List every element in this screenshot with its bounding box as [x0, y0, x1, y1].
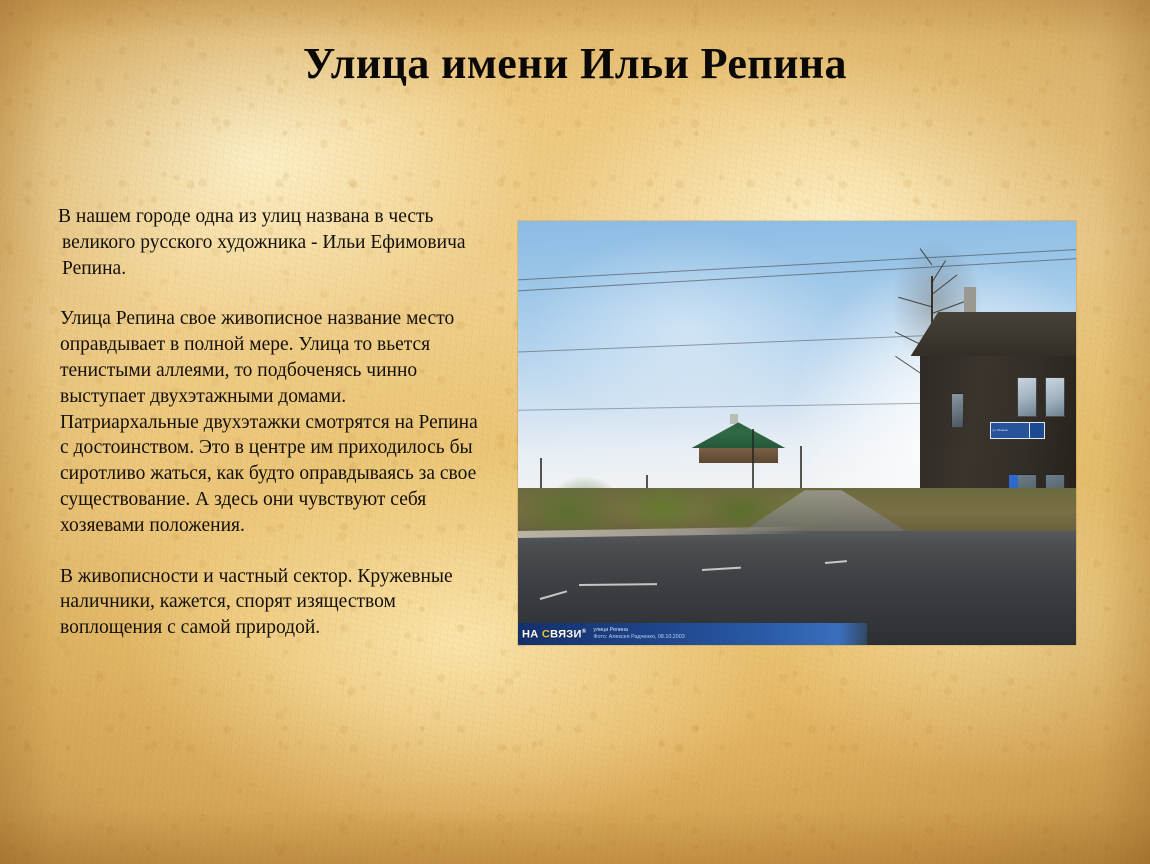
- na-svyazi-logo: НА СВЯЗИ®: [522, 627, 586, 641]
- paragraph-intro: В нашем городе одна из улиц названа в че…: [56, 204, 476, 281]
- green-roof-house: [691, 422, 786, 460]
- text-line: Улица Репина свое живописное название ме…: [60, 306, 476, 332]
- text-line: существование. А здесь они чувствуют себ…: [60, 487, 476, 513]
- text-line: великого русского художника - Ильи Ефимо…: [58, 230, 476, 256]
- text-line: Патриархальные двухэтажки смотрятся на Р…: [60, 410, 476, 436]
- slide-title: Улица имени Ильи Репина: [0, 38, 1150, 90]
- street-sign-number: [1029, 423, 1044, 437]
- text-line: Репина.: [58, 256, 476, 282]
- text-line: наличники, кажется, спорят изяществом: [60, 589, 476, 615]
- logo-prefix: НА: [522, 629, 542, 641]
- text-line: сиротливо жаться, как будто оправдываясь…: [60, 461, 476, 487]
- paragraph-description: Улица Репина свое живописное название ме…: [56, 306, 476, 538]
- paragraph-private-sector: В живописности и частный сектор. Кружевн…: [56, 564, 476, 641]
- street-photograph: ул. Репина НА СВЯЗИ® улица Репина Фото: …: [518, 221, 1076, 645]
- text-line: выступает двухэтажными домами.: [60, 384, 476, 410]
- body-text-column: В нашем городе одна из улиц названа в че…: [56, 204, 476, 641]
- text-line: воплощения с самой природой.: [60, 615, 476, 641]
- building-window: [1045, 377, 1066, 418]
- road-lane-marking: [579, 583, 657, 586]
- text-line: оправдывает в полной мере. Улица то вьет…: [60, 332, 476, 358]
- street-sign-label: ул. Репина: [991, 429, 1029, 432]
- logo-suffix: ВЯЗИ: [550, 629, 582, 641]
- text-line: В нашем городе одна из улиц названа в че…: [58, 204, 476, 230]
- street-name-sign: ул. Репина: [990, 422, 1045, 438]
- text-line: хозяевами положения.: [60, 513, 476, 539]
- photo-credit-line2: Фото: Алексея Радченко, 08.10.2003: [593, 634, 684, 641]
- building-window: [1017, 377, 1038, 418]
- building-roof: [910, 312, 1076, 357]
- photo-watermark-bar: НА СВЯЗИ® улица Репина Фото: Алексея Рад…: [518, 623, 867, 645]
- photo-credit: улица Репина Фото: Алексея Радченко, 08.…: [593, 627, 684, 640]
- house-roof: [691, 422, 786, 448]
- house-wall: [699, 448, 779, 463]
- building-window: [951, 393, 964, 428]
- logo-trademark: ®: [582, 629, 587, 635]
- photo-credit-line1: улица Репина: [593, 627, 684, 634]
- presentation-slide: Улица имени Ильи Репина В нашем городе о…: [0, 0, 1150, 864]
- text-line: тенистыми аллеями, то подбоченясь чинно: [60, 358, 476, 384]
- text-line: В живописности и частный сектор. Кружевн…: [60, 564, 476, 590]
- logo-accent-letter: С: [542, 629, 550, 641]
- text-line: с достоинством. Это в центре им приходил…: [60, 435, 476, 461]
- house-chimney: [730, 414, 739, 424]
